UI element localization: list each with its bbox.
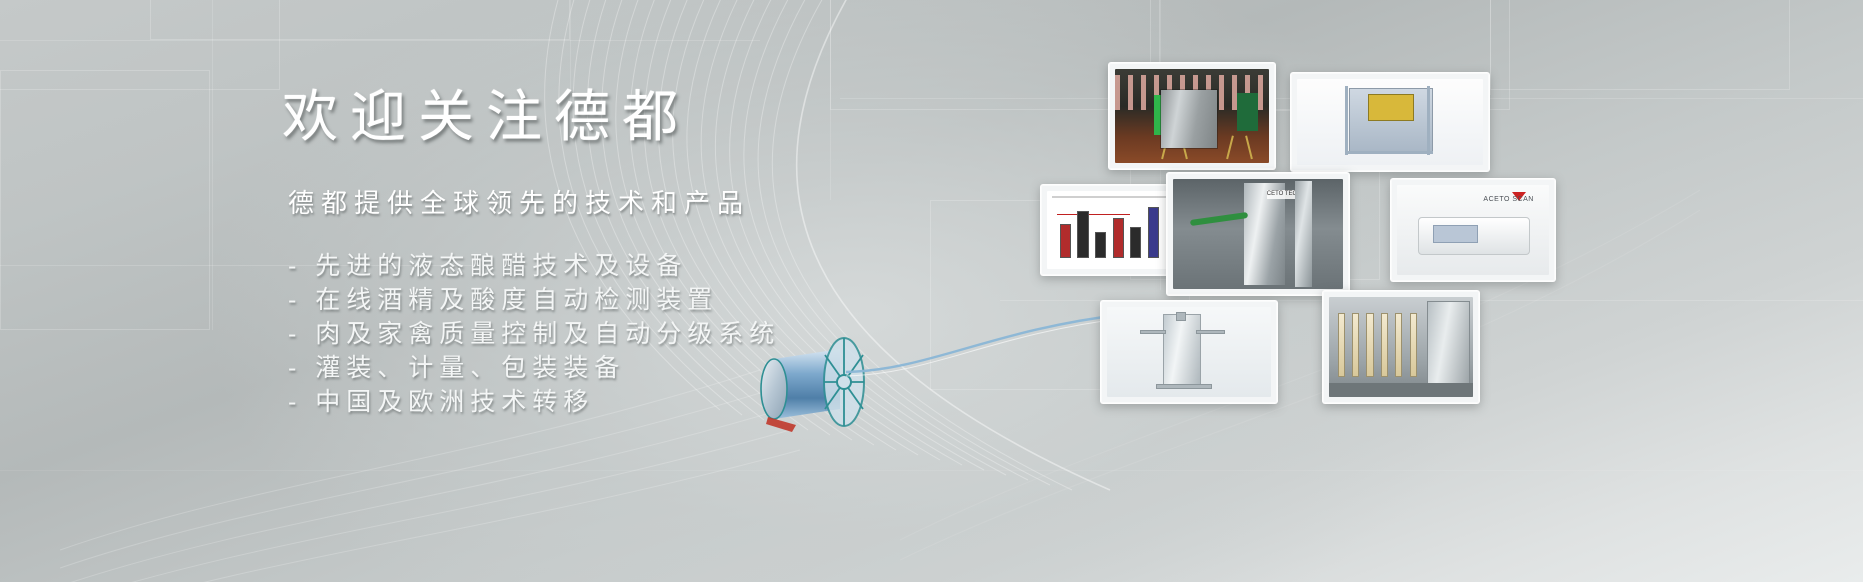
cable-spool-graphic: [752, 325, 882, 435]
photo-filter-unit-image: [1107, 307, 1271, 397]
photo-cad-machine[interactable]: [1290, 72, 1490, 172]
hero-copy: 欢迎关注德都 德都提供全球领先的技术和产品 - 先进的液态酿醋技术及设备 - 在…: [282, 86, 1042, 419]
list-item: - 灌装、计量、包装装备: [288, 351, 1042, 385]
list-item: - 中国及欧洲技术转移: [288, 385, 1042, 419]
photo-membrane-skid-image: [1329, 297, 1473, 397]
photo-chart-panel-image: [1047, 191, 1173, 269]
list-item: - 在线酒精及酸度自动检测装置: [288, 283, 1042, 317]
analyzer-brand-label: ACETO SCAN: [1483, 196, 1533, 204]
hero-banner: 欢迎关注德都 德都提供全球领先的技术和产品 - 先进的液态酿醋技术及设备 - 在…: [0, 0, 1863, 582]
photo-filter-unit[interactable]: [1100, 300, 1278, 404]
photo-bench-analyzer-image: ACETO SCAN: [1397, 185, 1549, 275]
list-item: - 肉及家禽质量控制及自动分级系统: [288, 317, 1042, 351]
photo-cad-machine-image: [1297, 79, 1483, 165]
photo-chart-panel[interactable]: [1040, 184, 1180, 276]
photo-poultry-line[interactable]: [1108, 62, 1276, 170]
page-title: 欢迎关注德都: [282, 86, 1042, 148]
photo-membrane-skid[interactable]: [1322, 290, 1480, 404]
hero-subtitle: 德都提供全球领先的技术和产品: [288, 188, 1042, 219]
photo-poultry-line-image: [1115, 69, 1269, 163]
photo-fermentation-tank-image: CETO TEC: [1173, 179, 1343, 289]
photo-fermentation-tank[interactable]: CETO TEC: [1166, 172, 1350, 296]
list-item: - 先进的液态酿醋技术及设备: [288, 249, 1042, 283]
tank-label: CETO TEC: [1267, 190, 1298, 199]
feature-list: - 先进的液态酿醋技术及设备 - 在线酒精及酸度自动检测装置 - 肉及家禽质量控…: [288, 249, 1042, 419]
photo-bench-analyzer[interactable]: ACETO SCAN: [1390, 178, 1556, 282]
